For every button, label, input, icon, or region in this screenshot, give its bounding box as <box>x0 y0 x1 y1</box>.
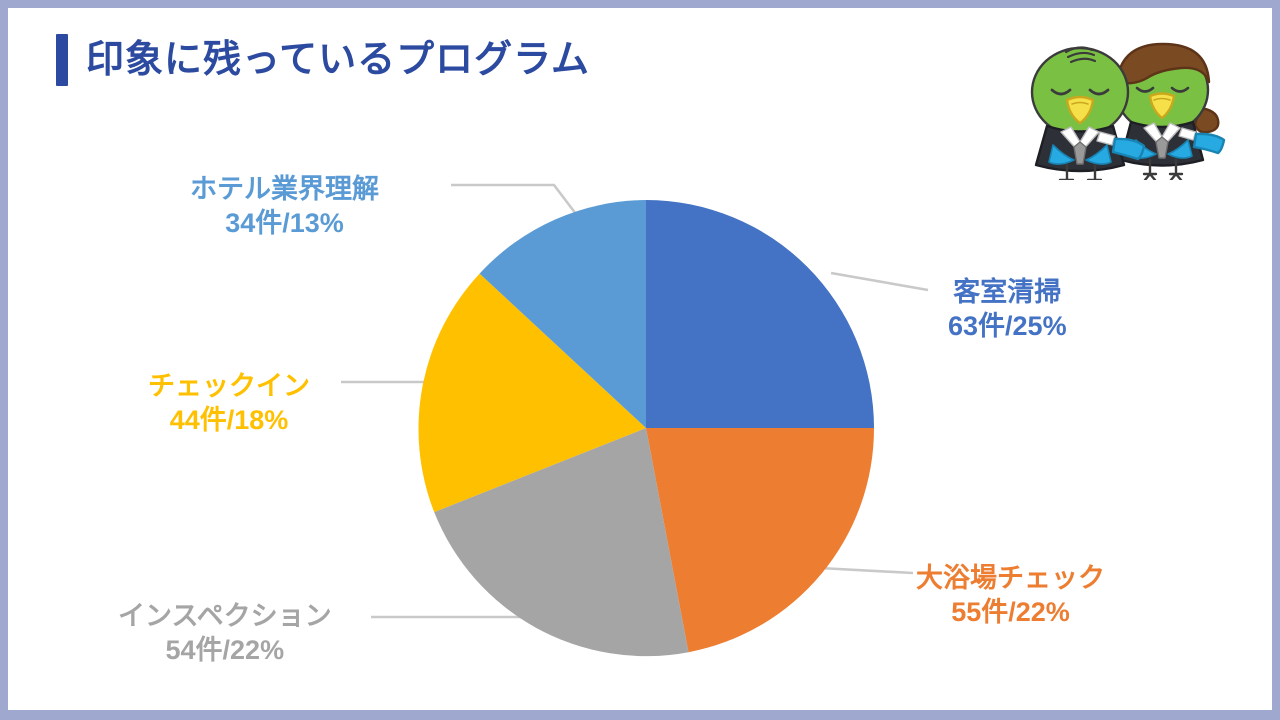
pie-label-bath: 大浴場チェック 55件/22% <box>916 562 1105 630</box>
pie-label-hotel-value: 34件/13% <box>190 207 379 241</box>
pie-slice-room[interactable] <box>646 200 874 428</box>
leader-line-bath <box>820 568 913 573</box>
pie-label-checkin: チェックイン 44件/18% <box>148 370 310 438</box>
pie-slices <box>418 200 874 656</box>
pie-label-inspection-name: インスペクション <box>118 600 332 634</box>
pie-label-checkin-value: 44件/18% <box>148 404 310 438</box>
pie-label-checkin-name: チェックイン <box>148 370 310 404</box>
pie-label-room-value: 63件/25% <box>948 310 1067 344</box>
leader-line-hotel <box>451 185 579 218</box>
slide-frame: 印象に残っているプログラム <box>0 0 1280 720</box>
pie-label-room: 客室清掃 63件/25% <box>948 276 1067 344</box>
pie-label-inspection: インスペクション 54件/22% <box>118 600 332 668</box>
leader-line-room <box>831 273 928 290</box>
slide-canvas: 印象に残っているプログラム <box>8 8 1272 710</box>
pie-label-bath-name: 大浴場チェック <box>916 562 1105 596</box>
pie-label-bath-value: 55件/22% <box>916 596 1105 630</box>
pie-label-inspection-value: 54件/22% <box>118 634 332 668</box>
pie-label-hotel: ホテル業界理解 34件/13% <box>190 173 379 241</box>
pie-label-room-name: 客室清掃 <box>948 276 1067 310</box>
pie-label-hotel-name: ホテル業界理解 <box>190 173 379 207</box>
